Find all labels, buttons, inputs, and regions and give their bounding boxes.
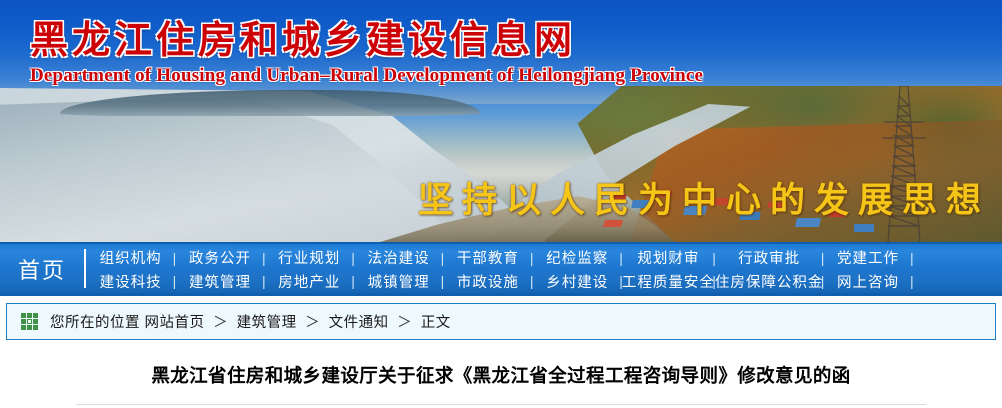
- breadcrumb-item-subcategory[interactable]: 文件通知: [329, 315, 389, 331]
- nav-item[interactable]: 纪检监察|: [533, 247, 622, 268]
- nav-item-label: 组织机构: [100, 247, 162, 268]
- breadcrumb: 您所在的位置 网站首页 ＞ 建筑管理 ＞ 文件通知 ＞ 正文: [6, 303, 996, 340]
- grid-cell: [27, 325, 32, 330]
- nav-item[interactable]: 干部教育|: [443, 247, 532, 268]
- nav-item[interactable]: 法治建设|: [354, 247, 443, 268]
- article-divider: [76, 404, 926, 405]
- grid-cell: [27, 313, 32, 318]
- nav-divider: |: [910, 251, 914, 265]
- nav-item-label: 住房保障公积金: [715, 271, 824, 292]
- breadcrumb-text: 您所在的位置 网站首页 ＞ 建筑管理 ＞ 文件通知 ＞ 正文: [50, 311, 451, 332]
- breadcrumb-separator: ＞: [305, 315, 320, 331]
- nav-item[interactable]: 市政设施|: [443, 271, 532, 292]
- grid-icon: [21, 313, 38, 330]
- nav-divider: |: [910, 274, 914, 288]
- grid-cell: [33, 319, 38, 324]
- grid-cell: [21, 319, 26, 324]
- nav-item-label: 工程质量安全: [622, 271, 715, 292]
- nav-item-label: 政务公开: [189, 247, 251, 268]
- nav-item[interactable]: 行业规划|: [265, 247, 354, 268]
- nav-item-label: 房地产业: [278, 271, 340, 292]
- nav-item[interactable]: 住房保障公积金|: [715, 271, 824, 292]
- nav-item-label: 建设科技: [100, 271, 162, 292]
- nav-item-label: 建筑管理: [189, 271, 251, 292]
- breadcrumb-item-category[interactable]: 建筑管理: [237, 315, 297, 331]
- nav-item[interactable]: 行政审批|: [715, 247, 824, 268]
- page-root: 黑龙江住房和城乡建设信息网 Department of Housing and …: [0, 0, 1002, 408]
- nav-item-label: 市政设施: [457, 271, 519, 292]
- nav-item[interactable]: 网上咨询|: [823, 271, 912, 292]
- grid-cell: [21, 313, 26, 318]
- banner-slogan: 坚持以人民为中心的发展思想: [418, 182, 990, 221]
- site-banner: 黑龙江住房和城乡建设信息网 Department of Housing and …: [0, 0, 1002, 242]
- breadcrumb-separator: ＞: [397, 315, 412, 331]
- grid-cell: [33, 313, 38, 318]
- nav-item[interactable]: 规划财审|: [622, 247, 715, 268]
- nav-item-home[interactable]: 首页: [0, 244, 84, 293]
- site-subtitle: Department of Housing and Urban–Rural De…: [30, 66, 703, 85]
- nav-item[interactable]: 工程质量安全|: [622, 271, 715, 292]
- article-section: 黑龙江省住房和城乡建设厅关于征求《黑龙江省全过程工程咨询导则》修改意见的函: [0, 348, 1002, 390]
- nav-item[interactable]: 建筑管理|: [175, 271, 264, 292]
- nav-item-label: 规划财审: [637, 247, 699, 268]
- nav-item[interactable]: 城镇管理|: [354, 271, 443, 292]
- grid-cell-center: [27, 319, 32, 324]
- breadcrumb-separator: ＞: [213, 315, 228, 331]
- nav-item-label: 行业规划: [278, 247, 340, 268]
- nav-item-label: 党建工作: [837, 247, 899, 268]
- nav-item[interactable]: 组织机构|: [86, 247, 175, 268]
- nav-item-label: 城镇管理: [368, 271, 430, 292]
- nav-item[interactable]: 党建工作|: [823, 247, 912, 268]
- nav-item-label: 纪检监察: [546, 247, 608, 268]
- nav-items-grid: 组织机构| 政务公开| 行业规划| 法治建设| 干部教育| 纪检监察| 规划财审…: [86, 244, 1002, 293]
- nav-item-label: 乡村建设: [546, 271, 608, 292]
- nav-item[interactable]: 建设科技|: [86, 271, 175, 292]
- breadcrumb-item-current: 正文: [421, 315, 451, 331]
- nav-item[interactable]: 乡村建设|: [533, 271, 622, 292]
- breadcrumb-prefix: 您所在的位置: [50, 315, 140, 331]
- site-title: 黑龙江住房和城乡建设信息网: [30, 22, 576, 60]
- grid-cell: [21, 325, 26, 330]
- page-title: 黑龙江省住房和城乡建设厅关于征求《黑龙江省全过程工程咨询导则》修改意见的函: [0, 348, 1002, 390]
- main-navigation: 首页 组织机构| 政务公开| 行业规划| 法治建设| 干部教育| 纪检监察| 规…: [0, 242, 1002, 296]
- nav-item-label: 干部教育: [457, 247, 519, 268]
- nav-item-label: 行政审批: [738, 247, 800, 268]
- nav-item-label: 法治建设: [368, 247, 430, 268]
- breadcrumb-item-home[interactable]: 网站首页: [145, 315, 205, 331]
- nav-item[interactable]: 政务公开|: [175, 247, 264, 268]
- grid-cell: [33, 325, 38, 330]
- nav-item[interactable]: 房地产业|: [265, 271, 354, 292]
- nav-item-label: 网上咨询: [837, 271, 899, 292]
